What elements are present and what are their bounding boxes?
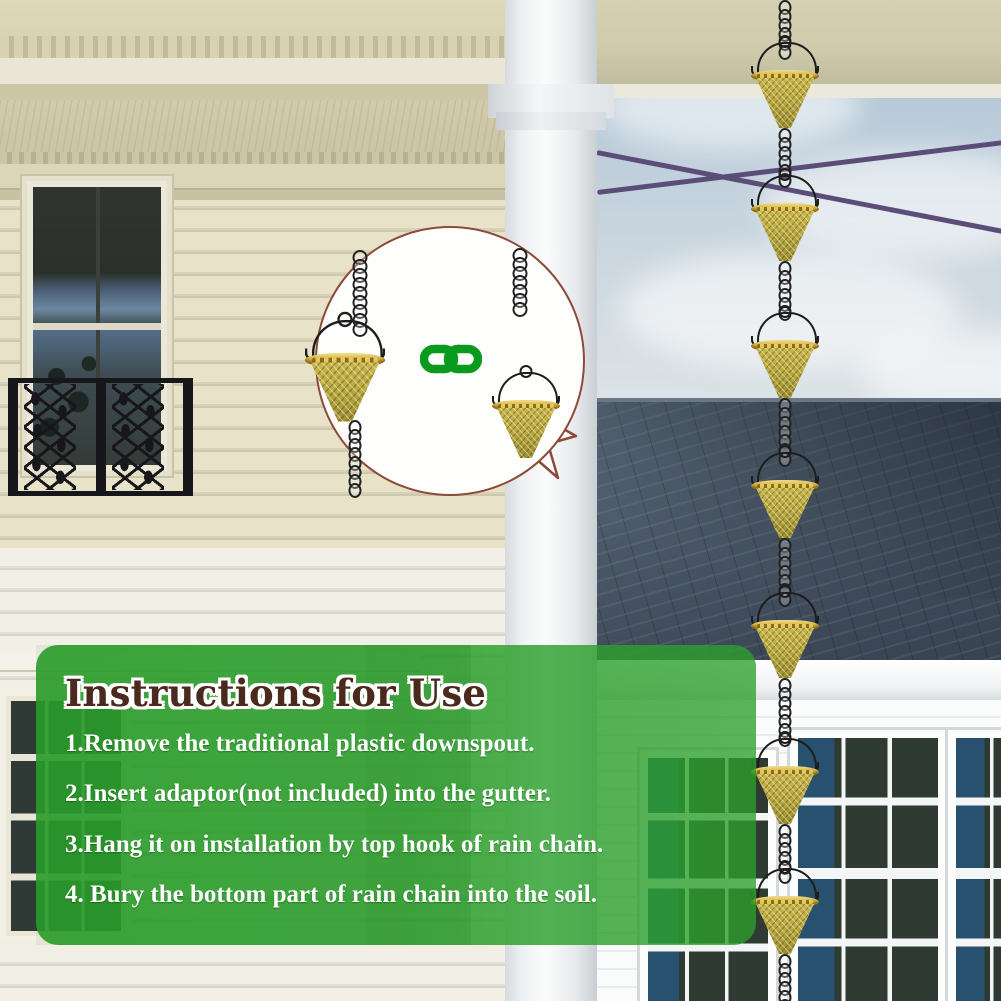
rain-chain-cup [749,592,821,678]
rain-chain-cup [749,175,821,261]
rain-chain-cup [749,452,821,538]
chain-segment [778,954,792,1001]
rain-chain-cup [749,738,821,824]
rain-chain-cup [303,320,388,421]
iron-railing [8,378,193,496]
dentil-molding-lower [0,152,520,164]
window-pane-group [948,730,1001,1001]
chain-segment [512,248,528,310]
instructions-panel: Instructions for Use 1.Remove the tradit… [36,645,756,945]
rain-chain-cup [749,312,821,398]
fascia-lower [0,84,540,100]
dentil-molding [0,36,540,58]
product-scene: Instructions for Use 1.Remove the tradit… [0,0,1001,1001]
chain-segment [352,250,368,328]
column-capital-lower [496,112,606,130]
link-chain-icon [420,336,482,382]
roof-ridge [597,398,1001,402]
page-title: Instructions for Use [65,671,486,715]
instruction-step: 3.Hang it on installation by top hook of… [65,832,745,858]
rain-chain-cup [490,372,562,458]
ceiling-texture [0,100,540,160]
instruction-step: 1.Remove the traditional plastic downspo… [65,731,745,757]
chain-segment [348,420,362,490]
instruction-step: 4. Bury the bottom part of rain chain in… [65,882,745,908]
rain-chain-cup [749,42,821,128]
rain-chain-cup [749,868,821,954]
instruction-step: 2.Insert adaptor(not included) into the … [65,781,745,807]
instruction-step-list: 1.Remove the traditional plastic downspo… [65,731,745,932]
fascia-band [0,58,540,84]
